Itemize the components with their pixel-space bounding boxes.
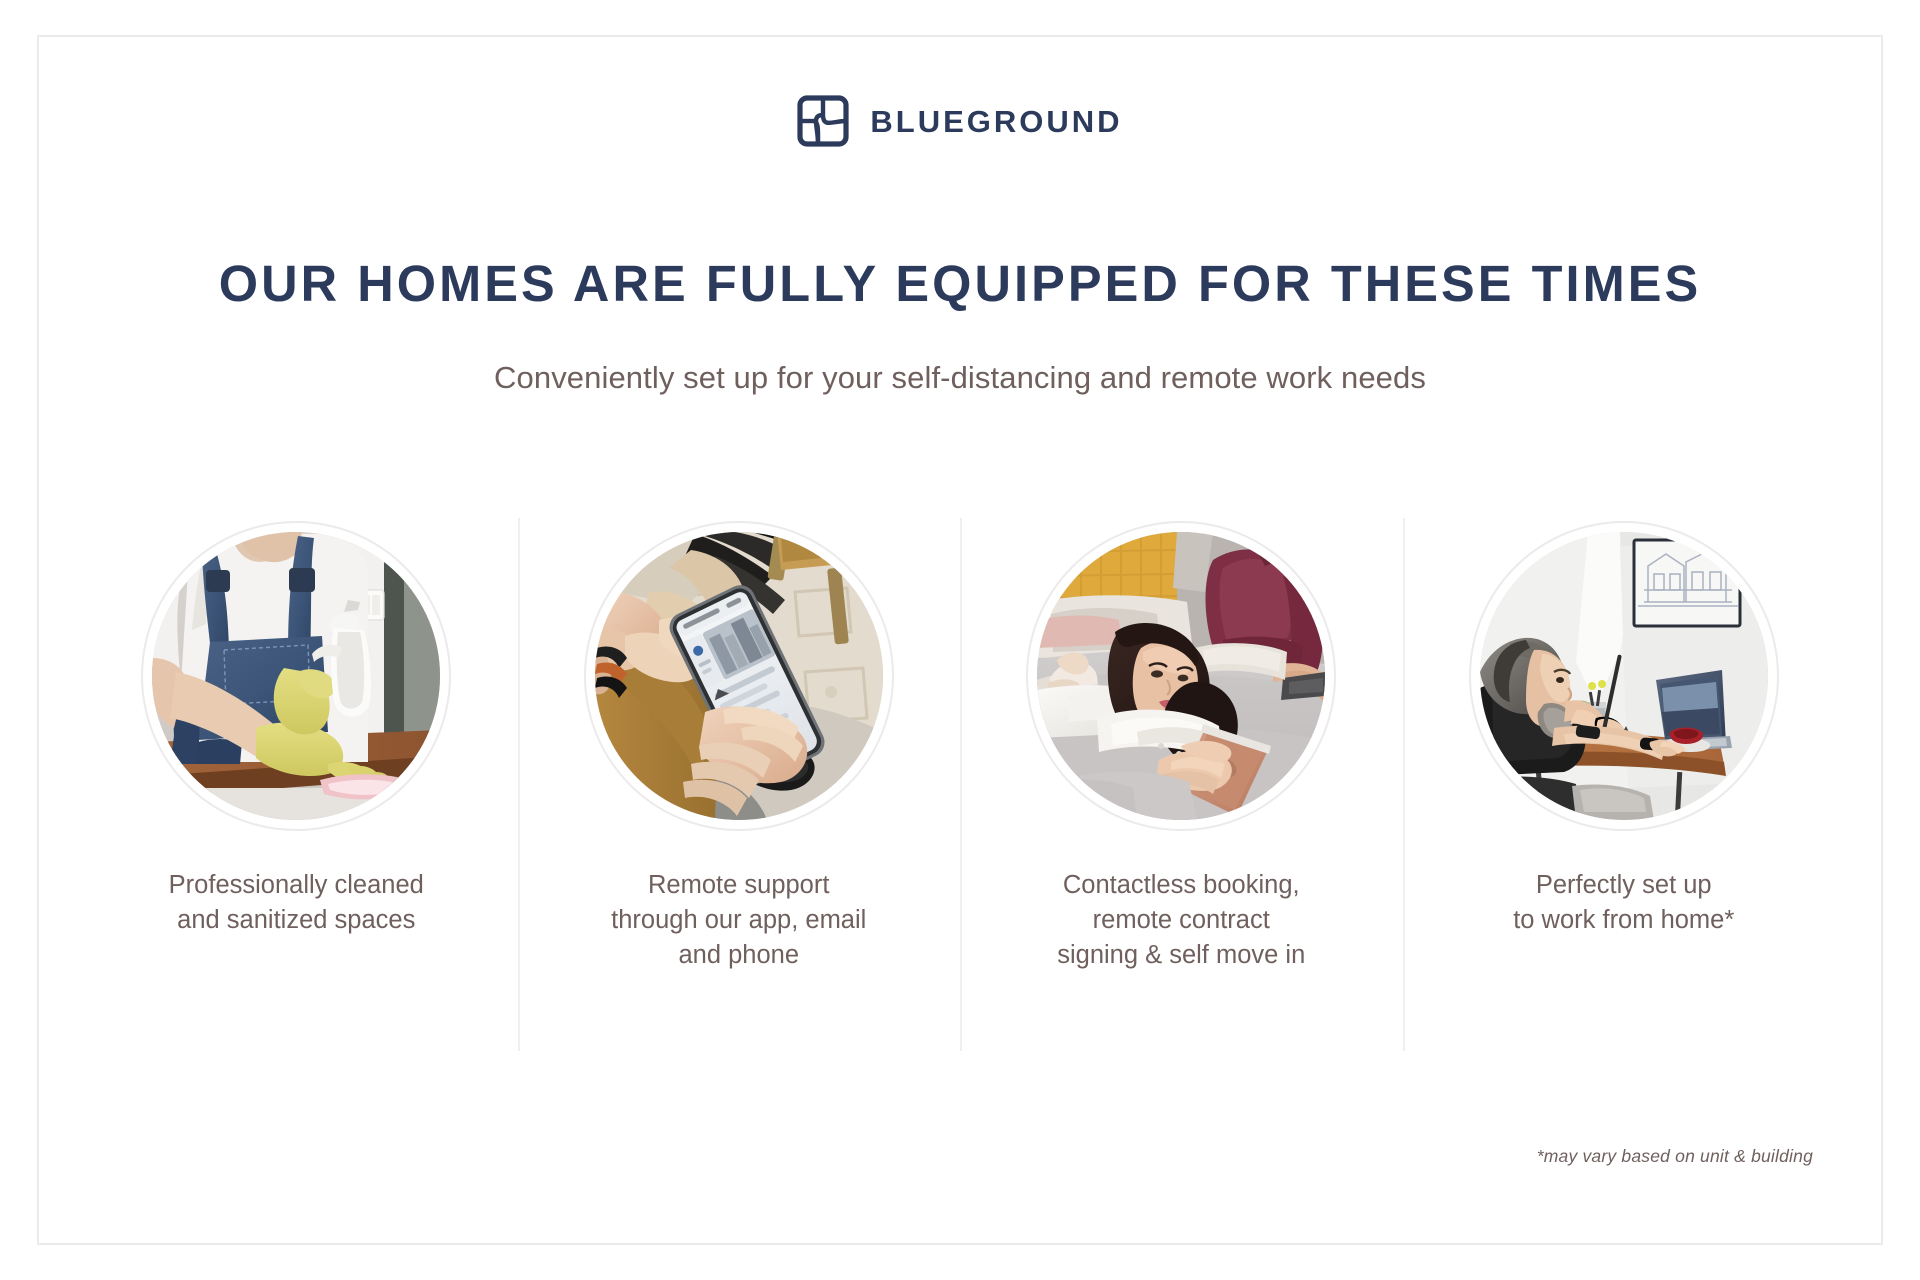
feature-column-cleaning: Professionally cleaned and sanitized spa…: [75, 518, 518, 1063]
feature-caption: Remote support through our app, email an…: [611, 868, 866, 974]
photo-frame: [1037, 532, 1325, 820]
photo-frame: [595, 532, 883, 820]
photo-contactless-booking-tablet: [1037, 532, 1325, 820]
feature-caption: Contactless booking, remote contract sig…: [1057, 868, 1305, 974]
brand-logo: BLUEGROUND: [0, 95, 1920, 147]
feature-caption: Professionally cleaned and sanitized spa…: [169, 868, 424, 938]
poster-page: BLUEGROUND OUR HOMES ARE FULLY EQUIPPED …: [0, 0, 1920, 1280]
photo-professional-cleaning: [152, 532, 440, 820]
footnote-disclaimer: *may vary based on unit & building: [1537, 1146, 1813, 1167]
feature-columns: Professionally cleaned and sanitized spa…: [75, 518, 1845, 1063]
photo-remote-support-phone: [595, 532, 883, 820]
photo-frame: [1480, 532, 1768, 820]
feature-column-work-from-home: Perfectly set up to work from home*: [1403, 518, 1846, 1063]
feature-column-contactless-booking: Contactless booking, remote contract sig…: [960, 518, 1403, 1063]
feature-caption: Perfectly set up to work from home*: [1513, 868, 1734, 938]
photo-frame: [152, 532, 440, 820]
photo-work-from-home-desk: [1480, 532, 1768, 820]
page-subtitle: Conveniently set up for your self-distan…: [0, 360, 1920, 396]
blueground-square-logo-icon: [797, 95, 849, 147]
page-title: OUR HOMES ARE FULLY EQUIPPED FOR THESE T…: [10, 254, 1911, 313]
feature-column-remote-support: Remote support through our app, email an…: [518, 518, 961, 1063]
brand-wordmark: BLUEGROUND: [870, 106, 1122, 137]
